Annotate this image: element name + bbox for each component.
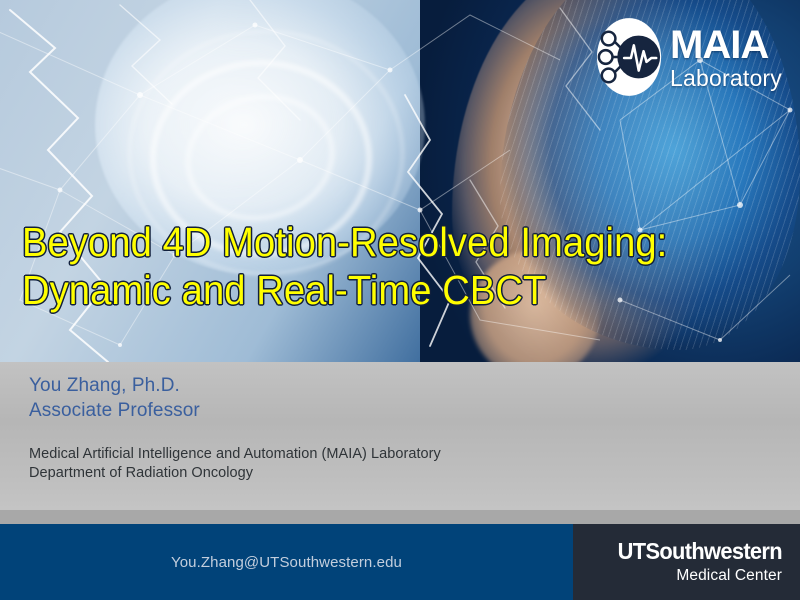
institution-name: UTSouthwestern [618, 539, 782, 564]
speaker-affiliation: Medical Artificial Intelligence and Auto… [29, 445, 441, 483]
slide-title-line-1: Beyond 4D Motion-Resolved Imaging: [22, 218, 692, 266]
utsouthwestern-logo: UTSouthwestern Medical Center [573, 524, 800, 600]
maia-neural-ecg-mark [595, 16, 663, 98]
affiliation-line-2: Department of Radiation Oncology [29, 464, 441, 483]
institution-subtitle: Medical Center [676, 566, 782, 585]
presentation-title-slide: MAIA Laboratory Beyond 4D Motion-Resolve… [0, 0, 800, 600]
contact-email[interactable]: You.Zhang@UTSouthwestern.edu [0, 524, 573, 600]
maia-logo-subtitle: Laboratory [670, 67, 782, 90]
speaker-band-bottom-strip [0, 510, 800, 524]
speaker-name: You Zhang, Ph.D. [29, 373, 200, 398]
speaker-role: Associate Professor [29, 398, 200, 423]
maia-logo-text: MAIA Laboratory [670, 25, 782, 90]
maia-laboratory-logo: MAIA Laboratory [595, 16, 782, 98]
slide-title: Beyond 4D Motion-Resolved Imaging: Dynam… [22, 218, 692, 314]
slide-title-line-2: Dynamic and Real-Time CBCT [22, 266, 692, 314]
maia-logo-name: MAIA [670, 25, 782, 65]
speaker-info: You Zhang, Ph.D. Associate Professor [29, 373, 200, 423]
affiliation-line-1: Medical Artificial Intelligence and Auto… [29, 445, 441, 464]
